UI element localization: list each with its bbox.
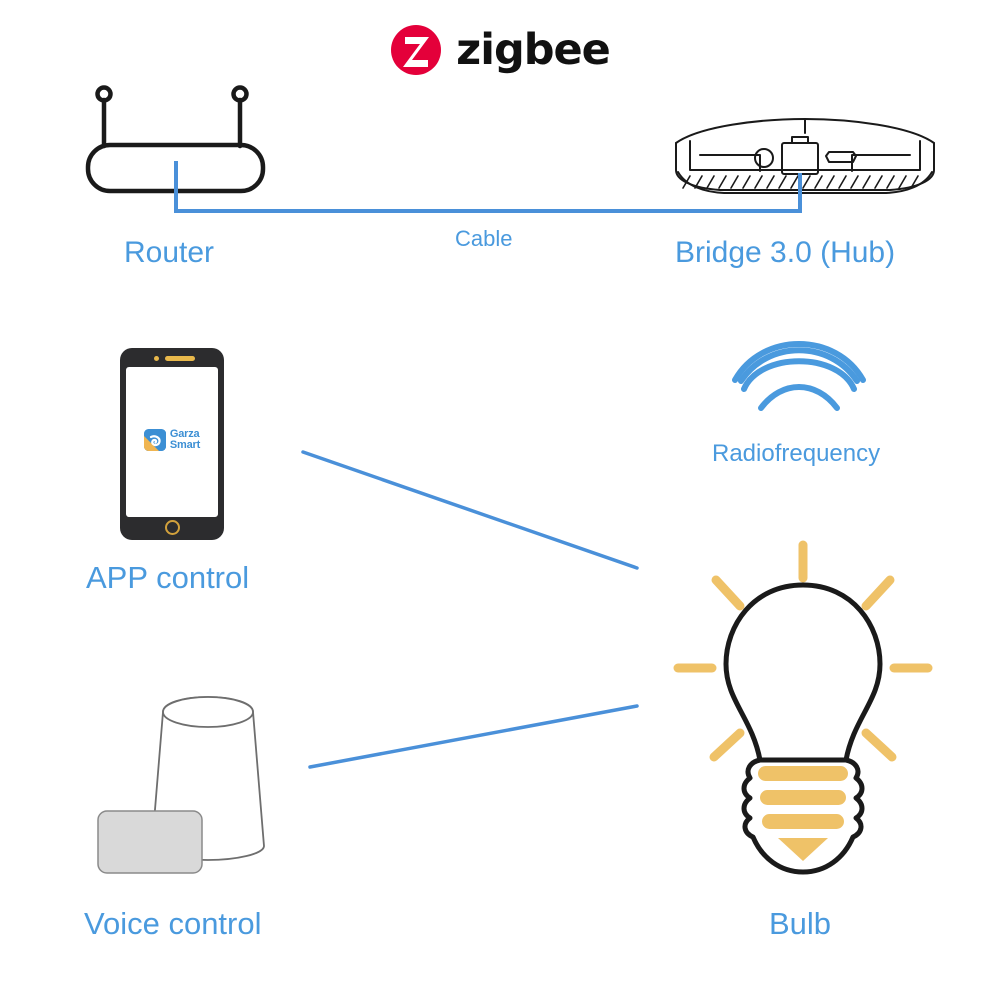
voice-to-bulb-link bbox=[310, 706, 637, 767]
zigbee-circle-z-mark bbox=[390, 24, 442, 76]
bulb-glass bbox=[726, 585, 880, 760]
zigbee-wordmark: zigbee bbox=[456, 29, 610, 72]
radiofrequency-label: Radiofrequency bbox=[712, 440, 880, 468]
smartphone-icon[interactable]: Garza Smart bbox=[120, 348, 224, 540]
speaker-panel bbox=[98, 811, 202, 873]
phone-camera-icon bbox=[154, 356, 159, 361]
garza-smart-app-name: Garza Smart bbox=[170, 429, 200, 451]
smart-speaker-icon bbox=[98, 697, 264, 873]
router-label: Router bbox=[124, 236, 214, 270]
speaker-body bbox=[152, 697, 264, 860]
app-name-line2: Smart bbox=[170, 440, 200, 451]
bridge-label: Bridge 3.0 (Hub) bbox=[675, 236, 895, 270]
phone-home-button[interactable] bbox=[165, 520, 180, 535]
phone-screen[interactable]: Garza Smart bbox=[126, 367, 218, 517]
wifi-router-icon bbox=[88, 88, 263, 192]
phone-earpiece-icon bbox=[165, 356, 195, 361]
bulb-base-bars bbox=[758, 766, 848, 861]
voice-control-label: Voice control bbox=[84, 906, 262, 942]
radio-waves-icon bbox=[735, 344, 863, 408]
app-control-label: APP control bbox=[86, 560, 249, 596]
cable-connection-line bbox=[176, 163, 800, 211]
cable-label: Cable bbox=[455, 226, 512, 252]
zigbee-network-diagram: zigbee bbox=[0, 0, 1000, 1000]
bulb-base bbox=[744, 760, 862, 872]
garza-smart-app-icon bbox=[144, 429, 166, 451]
garza-smart-app-logo[interactable]: Garza Smart bbox=[144, 429, 200, 451]
zigbee-mark-svg bbox=[390, 24, 442, 76]
zigbee-hub-icon bbox=[676, 119, 934, 193]
light-bulb-icon bbox=[678, 545, 928, 872]
app-to-bulb-link bbox=[303, 452, 637, 568]
bulb-rays bbox=[678, 545, 928, 757]
zigbee-brand-logo: zigbee bbox=[0, 24, 1000, 76]
bulb-label: Bulb bbox=[769, 906, 831, 942]
speaker-top bbox=[163, 697, 253, 727]
